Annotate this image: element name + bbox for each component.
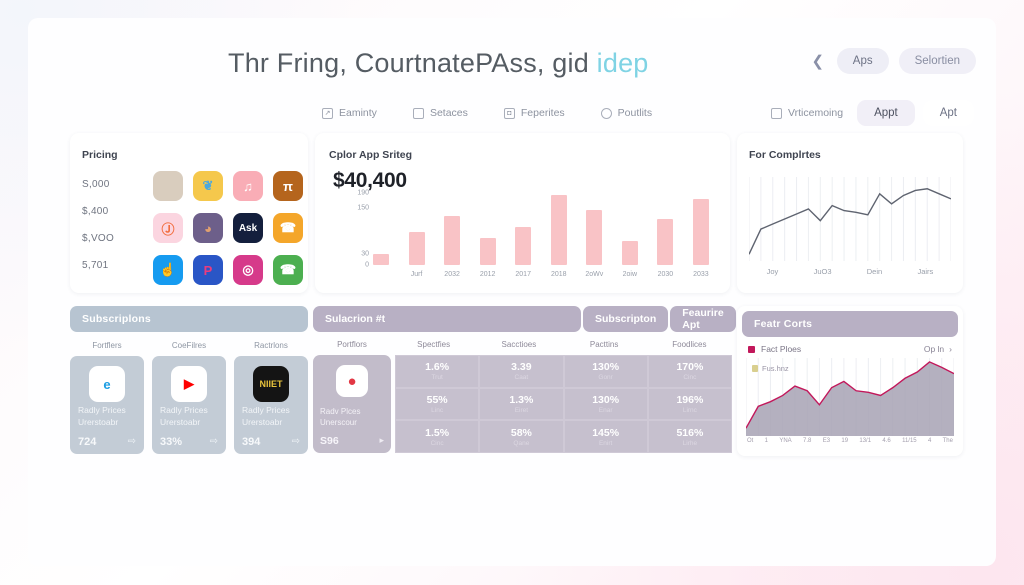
text-line-1: Radly Prices xyxy=(78,405,126,416)
text-line-1: Radly Prices xyxy=(242,405,290,416)
subscriptions-header: Subscriplons xyxy=(70,306,308,332)
bar-chart-card: Cplor App Sriteg $40,400 190150300 Jurf2… xyxy=(315,133,730,293)
table-cell: 55%Linc xyxy=(395,388,479,421)
x-tick-label: 2030 xyxy=(655,271,675,278)
table-subheader: Portflors xyxy=(313,340,391,349)
bar xyxy=(586,210,602,265)
calendar-icon xyxy=(771,108,782,119)
text-line-2: Unerscour xyxy=(320,418,360,429)
card-text: Radly PricesUrerstoabr xyxy=(160,405,208,428)
tab-services[interactable]: Setaces xyxy=(413,107,468,119)
arrow-icon[interactable]: ⇨ xyxy=(292,436,300,447)
x-tick-label: 1 xyxy=(765,438,768,444)
text-line-1: Radly Prices xyxy=(160,405,208,416)
table-header-main: Sulacrion #t xyxy=(313,306,581,332)
twitter-icon[interactable]: ❦ xyxy=(193,171,223,201)
table-cell: 3.39Caat xyxy=(479,355,563,388)
text-line-2: Urerstoabr xyxy=(242,417,290,428)
table-cell: 130%Gonr xyxy=(564,355,648,388)
subscription-card[interactable]: NIIETRadly PricesUrerstoabr394⇨ xyxy=(234,356,308,454)
cell-value: 170% xyxy=(676,361,703,373)
table-subheader: Spectfies xyxy=(391,340,476,349)
open-link-label: Op ln xyxy=(924,344,944,354)
open-link[interactable]: Op ln › xyxy=(924,344,952,354)
table-cell: 145%Enirt xyxy=(564,420,648,453)
line-chart-plot xyxy=(749,177,951,261)
legend-label: Fact Ploes xyxy=(761,344,801,354)
cell-sublabel: Eiret xyxy=(515,407,528,414)
bar-column xyxy=(513,189,533,265)
music-icon[interactable]: ♫ xyxy=(233,171,263,201)
cell-value: 55% xyxy=(427,394,448,406)
call-icon[interactable]: ☎ xyxy=(273,213,303,243)
subscription-column: RactrlonsNIIETRadly PricesUrerstoabr394⇨ xyxy=(234,341,308,454)
tab-favorites[interactable]: ◘ Feperites xyxy=(504,107,565,119)
feature-costs-panel: Featr Corts Fact Ploes Op ln › Fus.hnz O… xyxy=(737,306,963,456)
subscription-cards: FortflerseRadly PricesUrerstoabr724⇨CoeF… xyxy=(70,341,308,454)
y-tick-label: 150 xyxy=(357,205,369,212)
x-tick-label: Ot xyxy=(747,438,753,444)
table-cell: 196%Lirnc xyxy=(648,388,732,421)
x-tick-label: 2oiw xyxy=(620,271,640,278)
cell-value: 516% xyxy=(676,427,703,439)
lock-icon: ◘ xyxy=(504,108,515,119)
card-text: Radly PricesUrerstoabr xyxy=(242,405,290,428)
square-icon xyxy=(413,108,424,119)
cell-value: 1.6% xyxy=(425,361,449,373)
price-list: S,000 $,400 $,VOO 5,701 xyxy=(82,179,114,271)
card-value: 394 xyxy=(242,436,260,448)
x-tick-label: 2032 xyxy=(442,271,462,278)
tab-label: Feperites xyxy=(521,107,565,119)
docs-icon[interactable] xyxy=(153,171,183,201)
subscription-column: CoeFilres▶Radly PricesUrerstoabr33%⇨ xyxy=(152,341,226,454)
table-subheader: Foodlices xyxy=(647,340,732,349)
header-actions: ❮ Aps Selortien xyxy=(809,48,976,74)
table-cell: 170%Cinc xyxy=(648,355,732,388)
bar-chart-plot: 190150300 xyxy=(371,189,711,265)
arrow-icon[interactable]: ⇨ xyxy=(128,436,136,447)
text-line-1: Radv Plces xyxy=(320,407,360,418)
cell-sublabel: Cinc xyxy=(431,440,444,447)
x-tick-label: 2033 xyxy=(691,271,711,278)
bar xyxy=(622,241,638,265)
app-glyph: ● xyxy=(347,373,356,390)
coupon-icon[interactable]: Ⓙ xyxy=(153,213,183,243)
cell-value: 3.39 xyxy=(511,361,531,373)
legend-swatch-icon xyxy=(748,346,755,353)
page-title-accent: idep xyxy=(597,48,649,78)
face-icon[interactable]: ◕ xyxy=(193,213,223,243)
cell-sublabel: Enirt xyxy=(599,440,612,447)
x-tick-label: YNA xyxy=(779,438,791,444)
chevron-right-icon: › xyxy=(949,344,952,354)
feature-costs-xlabels: Ot1YNA7.8E31913/14.611/154The xyxy=(742,436,958,444)
bar-column xyxy=(549,189,569,265)
p-icon[interactable]: P xyxy=(193,255,223,285)
tag-label: Fus.hnz xyxy=(762,364,789,373)
subscription-table-panel: Sulacrion #t Subscripton Feaurire Apt Po… xyxy=(313,306,732,456)
x-tick-label: 11/15 xyxy=(902,438,917,444)
tab-label: Setaces xyxy=(430,107,468,119)
cell-sublabel: Cinc xyxy=(683,374,696,381)
circle-icon xyxy=(601,108,612,119)
x-tick-label: 19 xyxy=(841,438,848,444)
instagram-icon[interactable]: ◎ xyxy=(233,255,263,285)
x-tick-label: Dein xyxy=(867,267,882,276)
cell-value: 58% xyxy=(511,427,532,439)
cell-sublabel: Lirnc xyxy=(683,407,697,414)
table-first-cell[interactable]: ● Radv Plces Unerscour S96 ▸ xyxy=(313,355,391,453)
tag-swatch-icon xyxy=(752,365,758,372)
chart-icon: ↗ xyxy=(322,108,333,119)
thumb-icon[interactable]: ☝ xyxy=(153,255,183,285)
tab-outlets[interactable]: Poutlits xyxy=(601,107,652,119)
subscription-column: FortflerseRadly PricesUrerstoabr724⇨ xyxy=(70,341,144,454)
x-tick-label: Jairs xyxy=(917,267,933,276)
cell-value: 1.3% xyxy=(509,394,533,406)
text-line-2: Urerstoabr xyxy=(78,417,126,428)
bar-chart-xlabels: Jurf20322012201720182oWv2oiw20302033 xyxy=(371,271,711,278)
app-root: Thr Fring, CourtnatePAss, gid idep ❮ Aps… xyxy=(0,0,1024,585)
cell-value: 130% xyxy=(592,394,619,406)
cell-sublabel: Linc xyxy=(431,407,443,414)
tab-label: Poutlits xyxy=(618,107,652,119)
page-title-main: Thr Fring, CourtnatePAss, gid xyxy=(228,48,597,78)
cell-value: 1.5% xyxy=(425,427,449,439)
cell-sublabel: Gonr xyxy=(598,374,612,381)
table-body: ● Radv Plces Unerscour S96 ▸ 1.6%Trut3.3… xyxy=(313,355,732,453)
y-tick-label: 0 xyxy=(365,262,369,269)
tab-apt[interactable]: Apt xyxy=(923,100,974,126)
bar xyxy=(373,254,389,265)
line-chart-card: For Complrtes JoyJuO3DeinJairs xyxy=(737,133,963,293)
bar xyxy=(409,232,425,265)
subscriptions-panel: Subscriplons FortflerseRadly PricesUrers… xyxy=(70,306,308,456)
x-tick-label: 4.6 xyxy=(882,438,890,444)
cell-sublabel: Enar xyxy=(599,407,613,414)
bar xyxy=(657,219,673,265)
phone-icon[interactable]: ☎ xyxy=(273,255,303,285)
table-subheader: Sacctioes xyxy=(476,340,561,349)
bar-column xyxy=(442,189,462,265)
apps-pill[interactable]: Aps xyxy=(837,48,889,74)
price-row: 5,701 xyxy=(82,260,114,271)
cell-value: 145% xyxy=(592,427,619,439)
line-chart-title: For Complrtes xyxy=(749,149,821,161)
x-tick-label: 13/1 xyxy=(859,438,871,444)
table-header-row: Sulacrion #t Subscripton Feaurire Apt xyxy=(313,306,732,332)
cell-value: 196% xyxy=(676,394,703,406)
arrow-icon[interactable]: ▸ xyxy=(379,435,384,446)
pricing-title: Pricing xyxy=(82,149,118,161)
table-cell: 1.6%Trut xyxy=(395,355,479,388)
table-cell: 1.3%Eiret xyxy=(479,388,563,421)
legend-entry: Fact Ploes xyxy=(748,344,801,354)
ie-icon: e xyxy=(89,366,125,402)
youtube-icon: ▶ xyxy=(171,366,207,402)
column-label: CoeFilres xyxy=(152,341,226,350)
app-icon-grid: ❦♫πⒿ◕Ask☎☝P◎☎ xyxy=(148,171,308,285)
column-label: Fortflers xyxy=(70,341,144,350)
feature-tag: Fus.hnz xyxy=(752,364,789,373)
tab-label: Eaminty xyxy=(339,107,377,119)
table-first-cell-text: Radv Plces Unerscour xyxy=(320,407,360,429)
bar xyxy=(551,195,567,265)
bar xyxy=(480,238,496,265)
card-value: 33% xyxy=(160,436,182,448)
x-tick-label: Jurf xyxy=(407,271,427,278)
pi-icon[interactable]: π xyxy=(273,171,303,201)
subscription-card[interactable]: ▶Radly PricesUrerstoabr33%⇨ xyxy=(152,356,226,454)
column-label: Ractrlons xyxy=(234,341,308,350)
bar-column xyxy=(620,189,640,265)
nflt-icon: NIIET xyxy=(253,366,289,402)
table-header-feature: Feaurire Apt xyxy=(670,306,735,332)
x-tick-label: JuO3 xyxy=(814,267,832,276)
table-subheader: Pacttins xyxy=(562,340,647,349)
y-tick-label: 190 xyxy=(357,189,369,196)
table-cell: 1.5%Cinc xyxy=(395,420,479,453)
app-icon: ● xyxy=(336,365,368,397)
card-text: Radly PricesUrerstoabr xyxy=(78,405,126,428)
voice-monitoring-item[interactable]: Vrticemoing xyxy=(771,107,843,119)
cell-sublabel: Qane xyxy=(513,440,529,447)
text-line-2: Urerstoabr xyxy=(160,417,208,428)
table-subheader-row: PortflorsSpectfiesSacctioesPacttinsFoodl… xyxy=(313,340,732,349)
x-tick-label: Joy xyxy=(767,267,779,276)
subscription-card[interactable]: eRadly PricesUrerstoabr724⇨ xyxy=(70,356,144,454)
bar-column xyxy=(691,189,711,265)
ask-icon[interactable]: Ask xyxy=(233,213,263,243)
y-tick-label: 30 xyxy=(361,250,369,257)
bar-column xyxy=(584,189,604,265)
cell-sublabel: Lirhe xyxy=(683,440,697,447)
feature-costs-plot: Fus.hnz xyxy=(746,358,954,436)
x-tick-label: 2oWv xyxy=(584,271,604,278)
bar-column xyxy=(655,189,675,265)
cell-value: 130% xyxy=(592,361,619,373)
x-tick-label: 4 xyxy=(928,438,931,444)
bar xyxy=(515,227,531,265)
bar-chart-bars xyxy=(371,189,711,265)
chevron-left-icon[interactable]: ❮ xyxy=(809,52,827,70)
line-series xyxy=(749,177,951,261)
bar xyxy=(693,199,709,266)
pricing-card: Pricing S,000 $,400 $,VOO 5,701 ❦♫πⒿ◕Ask… xyxy=(70,133,308,293)
x-tick-label: 2012 xyxy=(478,271,498,278)
tab-appt-active[interactable]: Appt xyxy=(857,100,915,126)
price-row: $,VOO xyxy=(82,233,114,244)
page-title: Thr Fring, CourtnatePAss, gid idep xyxy=(228,48,649,79)
x-tick-label: 7.8 xyxy=(803,438,811,444)
tab-earnings[interactable]: ↗ Eaminty xyxy=(322,107,377,119)
cell-sublabel: Trut xyxy=(431,374,442,381)
table-grid: 1.6%Trut3.39Caat130%Gonr170%Cinc55%Linc1… xyxy=(395,355,732,453)
x-tick-label: E3 xyxy=(823,438,830,444)
feature-costs-header: Featr Corts xyxy=(742,311,958,337)
table-cell: 516%Lirhe xyxy=(648,420,732,453)
voice-label: Vrticemoing xyxy=(788,107,843,119)
table-cell: 58%Qane xyxy=(479,420,563,453)
secondary-tab-bar: Vrticemoing Appt Apt xyxy=(771,100,974,126)
x-tick-label: 2018 xyxy=(549,271,569,278)
table-cell: 130%Enar xyxy=(564,388,648,421)
selection-pill[interactable]: Selortien xyxy=(899,48,976,74)
x-tick-label: The xyxy=(943,438,953,444)
feature-legend-row: Fact Ploes Op ln › xyxy=(742,337,958,358)
bar-column xyxy=(478,189,498,265)
bar-chart-title: Cplor App Sriteg xyxy=(329,149,412,161)
price-row: $,400 xyxy=(82,206,114,217)
arrow-icon[interactable]: ⇨ xyxy=(210,436,218,447)
bar-column xyxy=(407,189,427,265)
table-first-cell-value: S96 xyxy=(320,435,339,447)
bar xyxy=(444,216,460,265)
x-tick-label: 2017 xyxy=(513,271,533,278)
price-row: S,000 xyxy=(82,179,114,190)
bar-column xyxy=(371,189,391,265)
cell-sublabel: Caat xyxy=(515,374,529,381)
table-header-subscription: Subscripton xyxy=(583,306,668,332)
line-chart-xlabels: JoyJuO3DeinJairs xyxy=(749,267,951,276)
tab-bar: ↗ Eaminty Setaces ◘ Feperites Poutlits xyxy=(322,107,652,119)
x-tick-label xyxy=(371,271,391,278)
card-value: 724 xyxy=(78,436,96,448)
bar-chart-yaxis: 190150300 xyxy=(345,189,369,265)
